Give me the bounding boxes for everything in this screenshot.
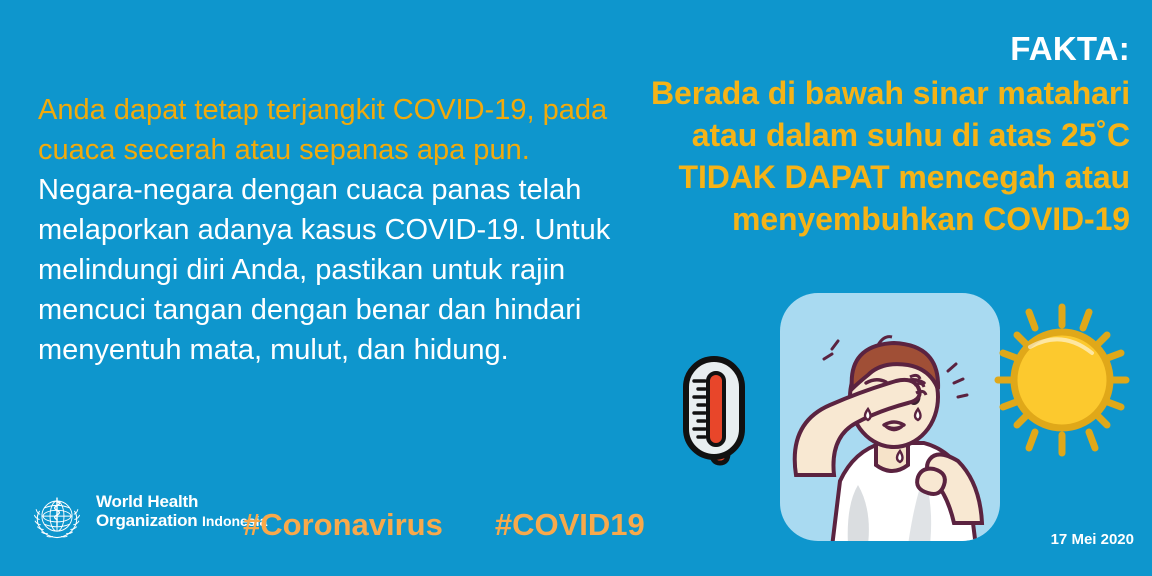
who-emblem-icon — [28, 490, 86, 548]
who-organization-name: World Health Organization — [96, 492, 198, 530]
who-logo-text: World Health Organization Indonesia — [96, 490, 267, 531]
headline-line-2: atau dalam suhu di atas 25˚C — [590, 114, 1130, 156]
illustration-group — [672, 285, 1152, 560]
fakta-label: FAKTA: — [590, 28, 1130, 70]
sun-icon — [998, 307, 1126, 453]
headline-line-1: Berada di bawah sinar matahari — [590, 72, 1130, 114]
who-logo: World Health Organization Indonesia — [28, 490, 267, 548]
thermometer-icon — [686, 359, 742, 463]
headline-line-3: TIDAK DAPAT mencegah atau — [590, 156, 1130, 198]
body-text-rest: Negara-negara dengan cuaca panas telah m… — [38, 170, 623, 370]
infographic-canvas: FAKTA: Berada di bawah sinar matahari at… — [0, 0, 1152, 576]
headline-line-4: menyembuhkan COVID-19 — [590, 198, 1130, 240]
hashtag-coronavirus: #Coronavirus — [243, 508, 443, 542]
body-text-block: Anda dapat tetap terjangkit COVID-19, pa… — [38, 90, 623, 370]
hashtag-covid19: #COVID19 — [495, 508, 645, 542]
hashtag-group: #Coronavirus #COVID19 — [243, 508, 645, 542]
headline-block: FAKTA: Berada di bawah sinar matahari at… — [590, 28, 1130, 240]
body-text-lead: Anda dapat tetap terjangkit COVID-19, pa… — [38, 90, 623, 170]
